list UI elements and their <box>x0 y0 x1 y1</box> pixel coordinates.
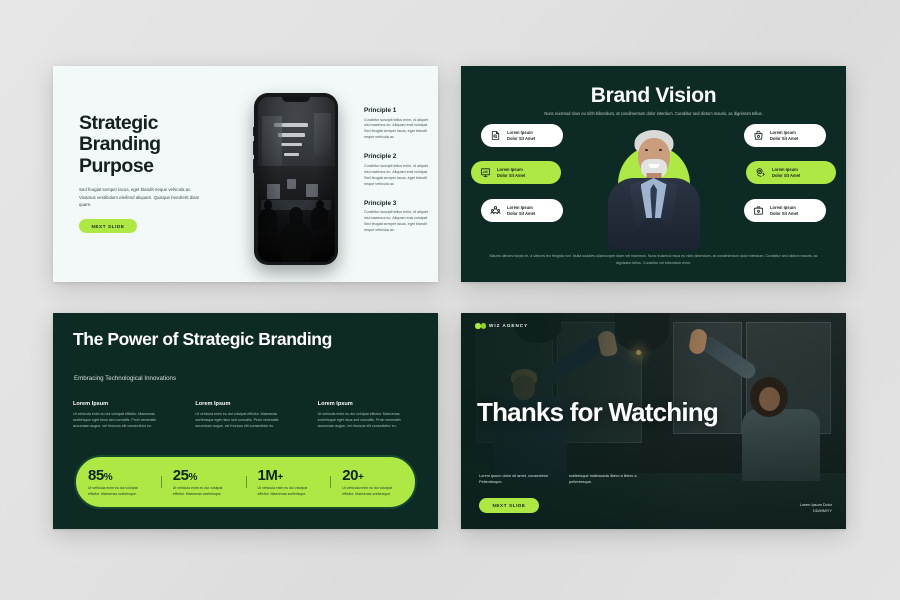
pill-label: Lorem IpsumDolor Sit Amet <box>507 205 535 217</box>
pill-label: Lorem IpsumDolor Sit Amet <box>497 167 525 179</box>
principle-text: Curabitur suscipit tellus enim, id aliqu… <box>364 210 432 234</box>
stat-item: 25% Ut vehicula enim eu dui volutpat eff… <box>161 467 246 497</box>
phone-mute-button <box>253 127 255 136</box>
brand-logo[interactable]: WIZ AGENCY <box>475 323 528 329</box>
column-item: Lorem Ipsum Ut vehicula enim eu dui volu… <box>195 401 295 429</box>
stat-item: 85% Ut vehicula enim eu dui volutpat eff… <box>76 467 161 497</box>
feature-pill-4[interactable]: Lorem IpsumDolor Sit Amet <box>744 124 826 147</box>
pill-label: Lorem IpsumDolor Sit Amet <box>507 130 535 142</box>
stat-number: 1M+ <box>258 467 319 484</box>
pill-label: Lorem IpsumDolor Sit Amet <box>770 130 798 142</box>
column-heading: Lorem Ipsum <box>195 401 295 407</box>
stats-band: 85% Ut vehicula enim eu dui volutpat eff… <box>74 455 417 509</box>
shopping-bag-icon <box>752 129 765 142</box>
column-text: Ut vehicula enim eu dui volutpat efficit… <box>195 411 295 429</box>
briefcase-lock-icon <box>752 204 765 217</box>
principle-heading: Principle 1 <box>364 107 432 114</box>
page-title: Brand Vision <box>461 84 846 108</box>
slide-brand-vision[interactable]: Brand Vision Nunc euismod risus eu nibh … <box>461 66 846 282</box>
next-slide-button[interactable]: NEXT SLIDE <box>79 219 137 233</box>
column-text: Ut vehicula enim eu dui volutpat efficit… <box>318 411 418 429</box>
logo-dot-icon <box>475 323 481 329</box>
people-group-icon <box>489 204 502 217</box>
column-heading: Lorem Ipsum <box>73 401 173 407</box>
stat-item: 1M+ Ut vehicula enim eu dui volutpat eff… <box>246 467 331 497</box>
column-item: Lorem Ipsum Ut vehicula enim eu dui volu… <box>318 401 418 429</box>
stat-text: Ut vehicula enim eu dui volutpat efficit… <box>342 486 403 497</box>
stat-number: 25% <box>173 467 234 484</box>
logo-dot-icon <box>481 323 487 329</box>
slide4-text-column-2: scelerisque malesuada libero a libero a … <box>569 473 641 486</box>
slide-deck-preview: Strategic Branding Purpose Sed feugiat s… <box>0 0 900 600</box>
page-title: Strategic Branding Purpose <box>79 113 203 177</box>
principle-item: Principle 2 Curabitur suscipit tellus en… <box>364 153 432 187</box>
next-slide-button[interactable]: NEXT SLIDE <box>479 498 539 513</box>
page-title: The Power of Strategic Branding <box>73 329 332 349</box>
stat-text: Ut vehicula enim eu dui volutpat efficit… <box>88 486 149 497</box>
slide3-subtitle: Embracing Technological Innovations <box>74 375 176 382</box>
feature-pill-2[interactable]: Lorem IpsumDolor Sit Amet <box>471 161 561 184</box>
principles-list: Principle 1 Curabitur suscipit tellus en… <box>364 107 432 234</box>
principle-heading: Principle 2 <box>364 153 432 160</box>
principle-heading: Principle 3 <box>364 200 432 207</box>
slide1-body-text: Sed feugiat semper lacus, eget blandit n… <box>79 186 203 208</box>
slide-power-of-strategic-branding[interactable]: The Power of Strategic Branding Embracin… <box>53 313 438 529</box>
stat-text: Ut vehicula enim eu dui volutpat efficit… <box>173 486 234 497</box>
page-title: Thanks for Watching <box>477 398 718 426</box>
phone-volume-up-button <box>253 141 255 155</box>
document-search-icon <box>489 129 502 142</box>
phone-notch <box>282 97 310 102</box>
principle-item: Principle 3 Curabitur suscipit tellus en… <box>364 200 432 234</box>
principle-text: Curabitur suscipit tellus enim, id aliqu… <box>364 118 432 142</box>
feature-pill-5[interactable]: Lorem IpsumDolor Sit Amet <box>746 161 836 184</box>
stat-number: 85% <box>88 467 149 484</box>
stat-text: Ut vehicula enim eu dui volutpat efficit… <box>258 486 319 497</box>
column-heading: Lorem Ipsum <box>318 401 418 407</box>
principle-item: Principle 1 Curabitur suscipit tellus en… <box>364 107 432 141</box>
phone-volume-down-button <box>253 159 255 173</box>
slide-strategic-branding-purpose[interactable]: Strategic Branding Purpose Sed feugiat s… <box>53 66 438 282</box>
feature-pill-1[interactable]: Lorem IpsumDolor Sit Amet <box>481 124 563 147</box>
pill-label: Lorem IpsumDolor Sit Amet <box>770 205 798 217</box>
slide4-footer: Lorem Ipsum Dolor DD/MM/YY <box>800 503 832 515</box>
feature-pill-3[interactable]: Lorem IpsumDolor Sit Amet <box>481 199 563 222</box>
stat-item: 20+ Ut vehicula enim eu dui volutpat eff… <box>330 467 415 497</box>
presentation-chart-icon <box>479 166 492 179</box>
slide3-columns: Lorem Ipsum Ut vehicula enim eu dui volu… <box>73 401 418 429</box>
slide4-columns: Lorem ipsum dolor sit amet, consectetur … <box>479 473 641 486</box>
pill-label: Lorem IpsumDolor Sit Amet <box>772 167 800 179</box>
stat-number: 20+ <box>342 467 403 484</box>
slide-thanks-for-watching[interactable]: WIZ AGENCY Thanks for Watching Lorem ips… <box>461 313 846 529</box>
principle-text: Curabitur suscipit tellus enim, id aliqu… <box>364 164 432 188</box>
phone-screen-photo <box>258 97 335 262</box>
businessman-photo <box>600 114 708 250</box>
phone-mockup <box>254 93 338 265</box>
logo-text: WIZ AGENCY <box>489 323 528 328</box>
column-item: Lorem Ipsum Ut vehicula enim eu dui volu… <box>73 401 173 429</box>
slide1-text-column: Strategic Branding Purpose Sed feugiat s… <box>79 113 203 233</box>
feature-pill-6[interactable]: Lorem IpsumDolor Sit Amet <box>744 199 826 222</box>
target-hand-icon <box>754 166 767 179</box>
slide4-text-column-1: Lorem ipsum dolor sit amet, consectetur … <box>479 473 551 486</box>
footer-line-2: DD/MM/YY <box>800 509 832 515</box>
slide2-footer-text: Mauris ultrices turpis mi, a ultrices le… <box>485 253 822 267</box>
column-text: Ut vehicula enim eu dui volutpat efficit… <box>73 411 173 429</box>
